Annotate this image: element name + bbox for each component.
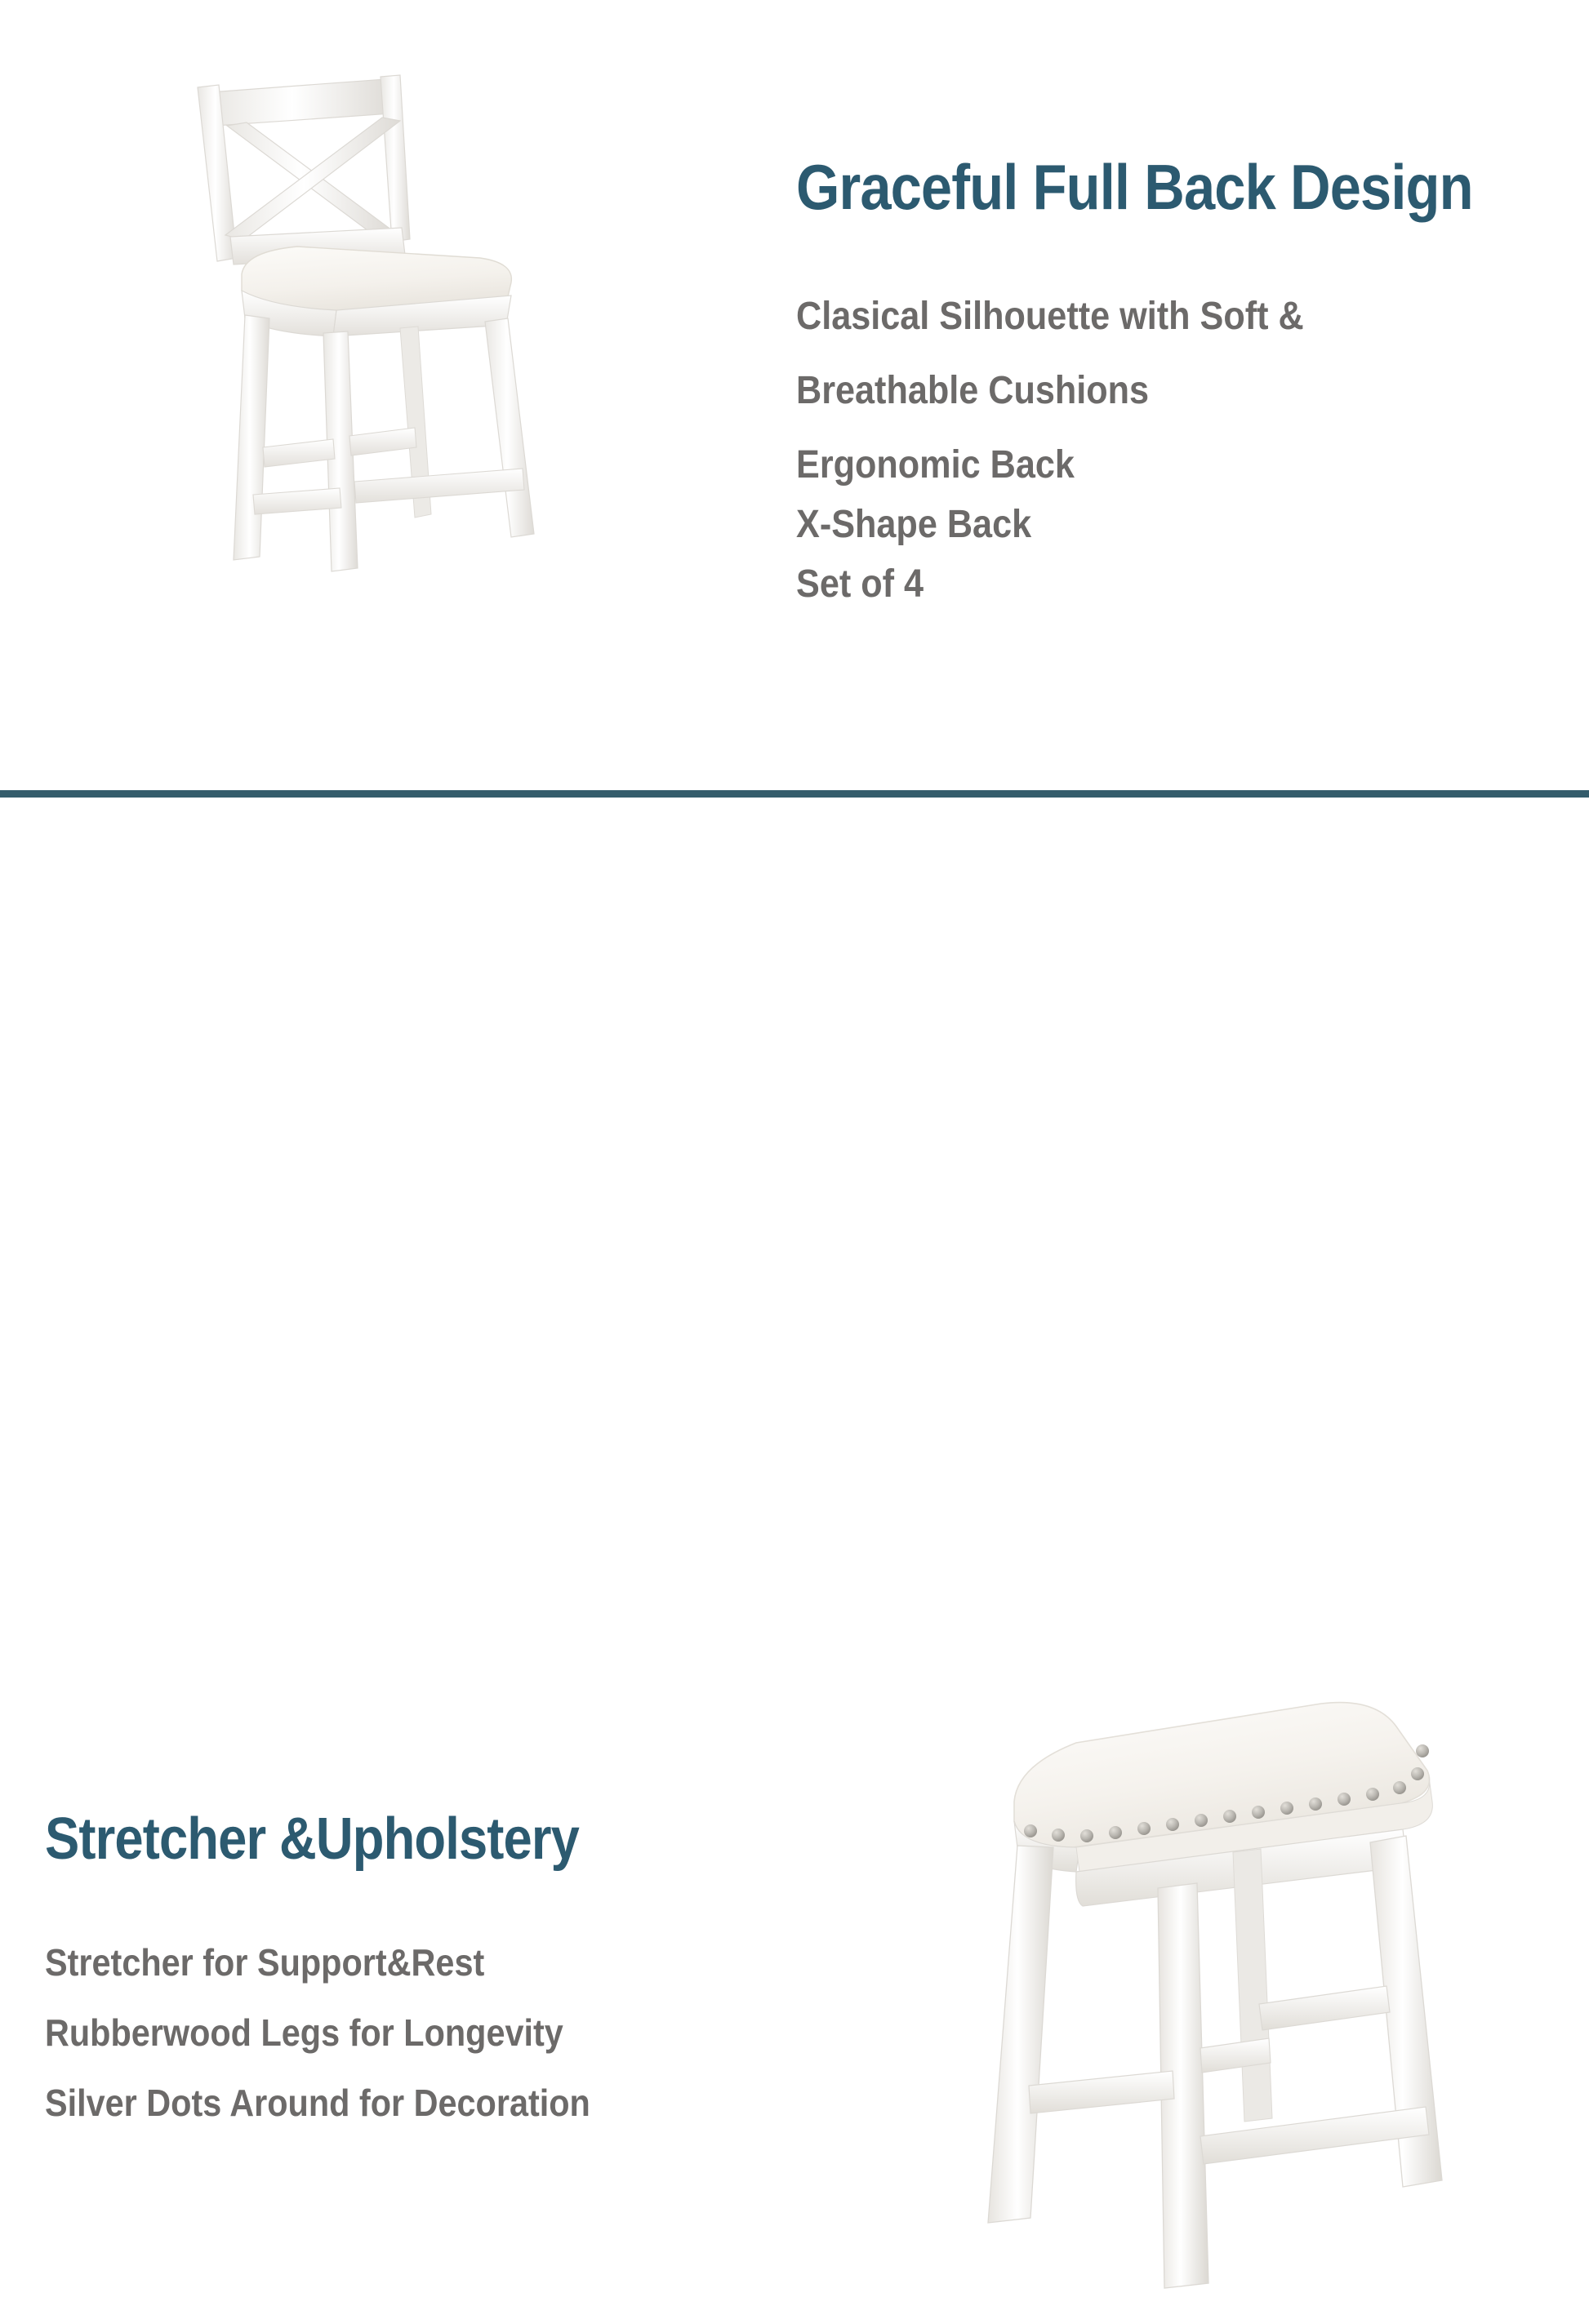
section-divider: [0, 790, 1589, 798]
section-graceful-full-back-design: Graceful Full Back Design Clasical Silho…: [0, 0, 1589, 790]
feature-item: Silver Dots Around for Decoration: [45, 2081, 591, 2125]
page-title-stretcher: Stretcher &Upholstery: [45, 1810, 579, 1869]
backless-counter-stool-image: [939, 1679, 1511, 2324]
feature-list-stretcher: Stretcher for Support&Rest Rubberwood Le…: [45, 1940, 652, 2125]
chair-stretchers: [253, 428, 524, 514]
feature-item: Breathable Cushions: [796, 368, 1488, 413]
feature-item: X-Shape Back: [796, 502, 1488, 547]
feature-item: Set of 4: [796, 562, 1488, 607]
feature-item: Clasical Silhouette with Soft &: [796, 294, 1488, 339]
section-stretcher-and-upholstery: Stretcher &Upholstery Stretcher for Supp…: [0, 798, 1589, 1589]
feature-item: Ergonomic Back: [796, 442, 1488, 487]
top-section-text-block: Graceful Full Back Design Clasical Silho…: [796, 155, 1565, 621]
chair-back-assembly: [198, 75, 410, 264]
stool-seat: [1014, 1703, 1432, 1906]
feature-list-graceful: Clasical Silhouette with Soft & Breathab…: [796, 294, 1565, 607]
feature-item: Rubberwood Legs for Longevity: [45, 2011, 591, 2055]
bottom-section-text-block: Stretcher &Upholstery Stretcher for Supp…: [45, 1810, 652, 2151]
feature-item: Stretcher for Support&Rest: [45, 1940, 591, 1984]
chair-seat: [242, 247, 511, 336]
infographic-page: Graceful Full Back Design Clasical Silho…: [0, 0, 1589, 1589]
page-title-graceful: Graceful Full Back Design: [796, 155, 1473, 219]
counter-height-dining-chair-image: [122, 41, 612, 596]
stool-stretchers: [1029, 1986, 1429, 2164]
